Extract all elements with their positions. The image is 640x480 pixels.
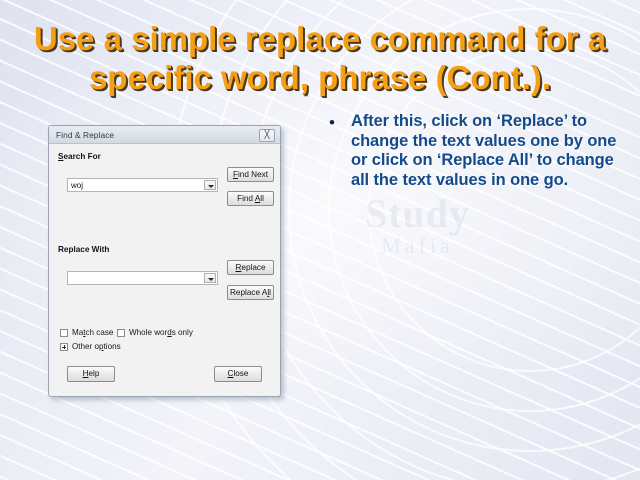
replace-all-label-b: l [269, 288, 271, 297]
dialog-title: Find & Replace [56, 130, 114, 140]
help-button[interactable]: Help [67, 366, 115, 382]
find-and-replace-dialog: Find & Replace ╳ Search For woj Find Nex… [48, 125, 281, 397]
replace-with-input[interactable] [67, 271, 218, 285]
other-options-label: Other options [72, 342, 121, 351]
close-button[interactable]: Close [214, 366, 262, 382]
match-case-label: Match case [72, 328, 113, 337]
watermark-secondary-text: Mafia [300, 233, 535, 259]
bullet-marker-icon: • [326, 112, 351, 133]
checkbox-icon[interactable] [60, 329, 68, 337]
search-for-label: Search For [58, 152, 101, 161]
watermark-logo: Study Mafia [300, 195, 535, 315]
replace-button[interactable]: Replace [227, 260, 274, 275]
presentation-slide: Study Mafia Use a simple replace command… [0, 0, 640, 480]
page-title: Use a simple replace command for a speci… [18, 20, 622, 98]
checkbox-icon[interactable] [117, 329, 125, 337]
other-options-expander[interactable]: Other options [60, 342, 121, 351]
search-for-label-rest: earch For [63, 152, 100, 161]
list-item: • After this, click on ‘Replace’ to chan… [326, 112, 626, 190]
close-label: lose [233, 369, 248, 378]
help-label: elp [88, 369, 99, 378]
search-for-input[interactable]: woj [67, 178, 218, 192]
chevron-down-icon[interactable] [204, 273, 216, 283]
dialog-titlebar[interactable]: Find & Replace ╳ [49, 126, 280, 144]
plus-expand-icon[interactable] [60, 343, 68, 351]
replace-with-label-text: Replace With [58, 245, 109, 254]
find-all-label-a: Find [237, 194, 255, 203]
watermark-primary-text: Study [300, 195, 535, 233]
match-case-checkbox[interactable]: Match case [60, 328, 113, 337]
slide-body-bullet-list: • After this, click on ‘Replace’ to chan… [326, 112, 626, 190]
find-all-label-b: ll [260, 194, 264, 203]
search-for-value: woj [71, 181, 83, 190]
replace-all-button[interactable]: Replace All [227, 285, 274, 300]
chevron-down-icon[interactable] [204, 180, 216, 190]
close-icon[interactable]: ╳ [259, 129, 275, 142]
find-all-button[interactable]: Find All [227, 191, 274, 206]
whole-words-only-checkbox[interactable]: Whole words only [117, 328, 193, 337]
replace-all-label-a: Replace A [230, 288, 267, 297]
bullet-text: After this, click on ‘Replace’ to change… [351, 112, 626, 190]
find-next-label: ind Next [238, 170, 268, 179]
find-next-button[interactable]: Find Next [227, 167, 274, 182]
replace-with-label: Replace With [58, 245, 109, 254]
replace-label: eplace [241, 263, 265, 272]
whole-words-only-label: Whole words only [129, 328, 193, 337]
